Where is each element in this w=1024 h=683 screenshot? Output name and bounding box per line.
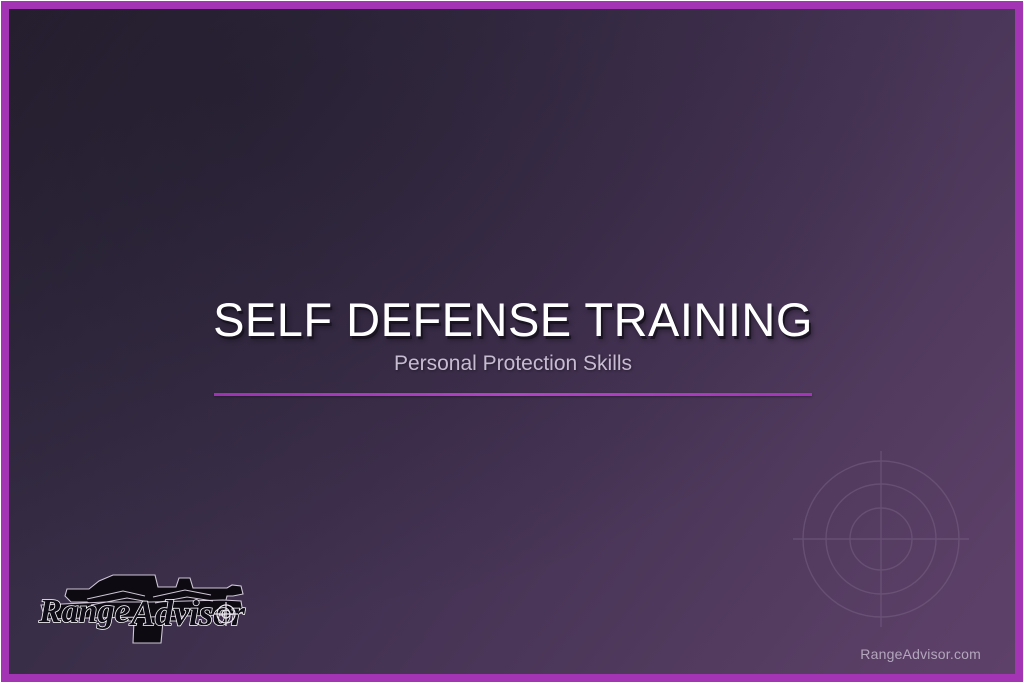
site-watermark: RangeAdvisor.com — [860, 646, 981, 662]
accent-divider — [214, 393, 812, 396]
page-title: SELF DEFENSE TRAINING — [9, 292, 1017, 347]
brand-logo: Range Advisor — [27, 569, 259, 647]
page-subtitle: Personal Protection Skills — [9, 352, 1017, 376]
slide-frame: SELF DEFENSE TRAINING Personal Protectio… — [1, 1, 1023, 682]
logo-text-range: Range — [38, 593, 130, 630]
slide-canvas: SELF DEFENSE TRAINING Personal Protectio… — [0, 0, 1024, 683]
logo-text-advisor: Advisor — [129, 593, 246, 633]
